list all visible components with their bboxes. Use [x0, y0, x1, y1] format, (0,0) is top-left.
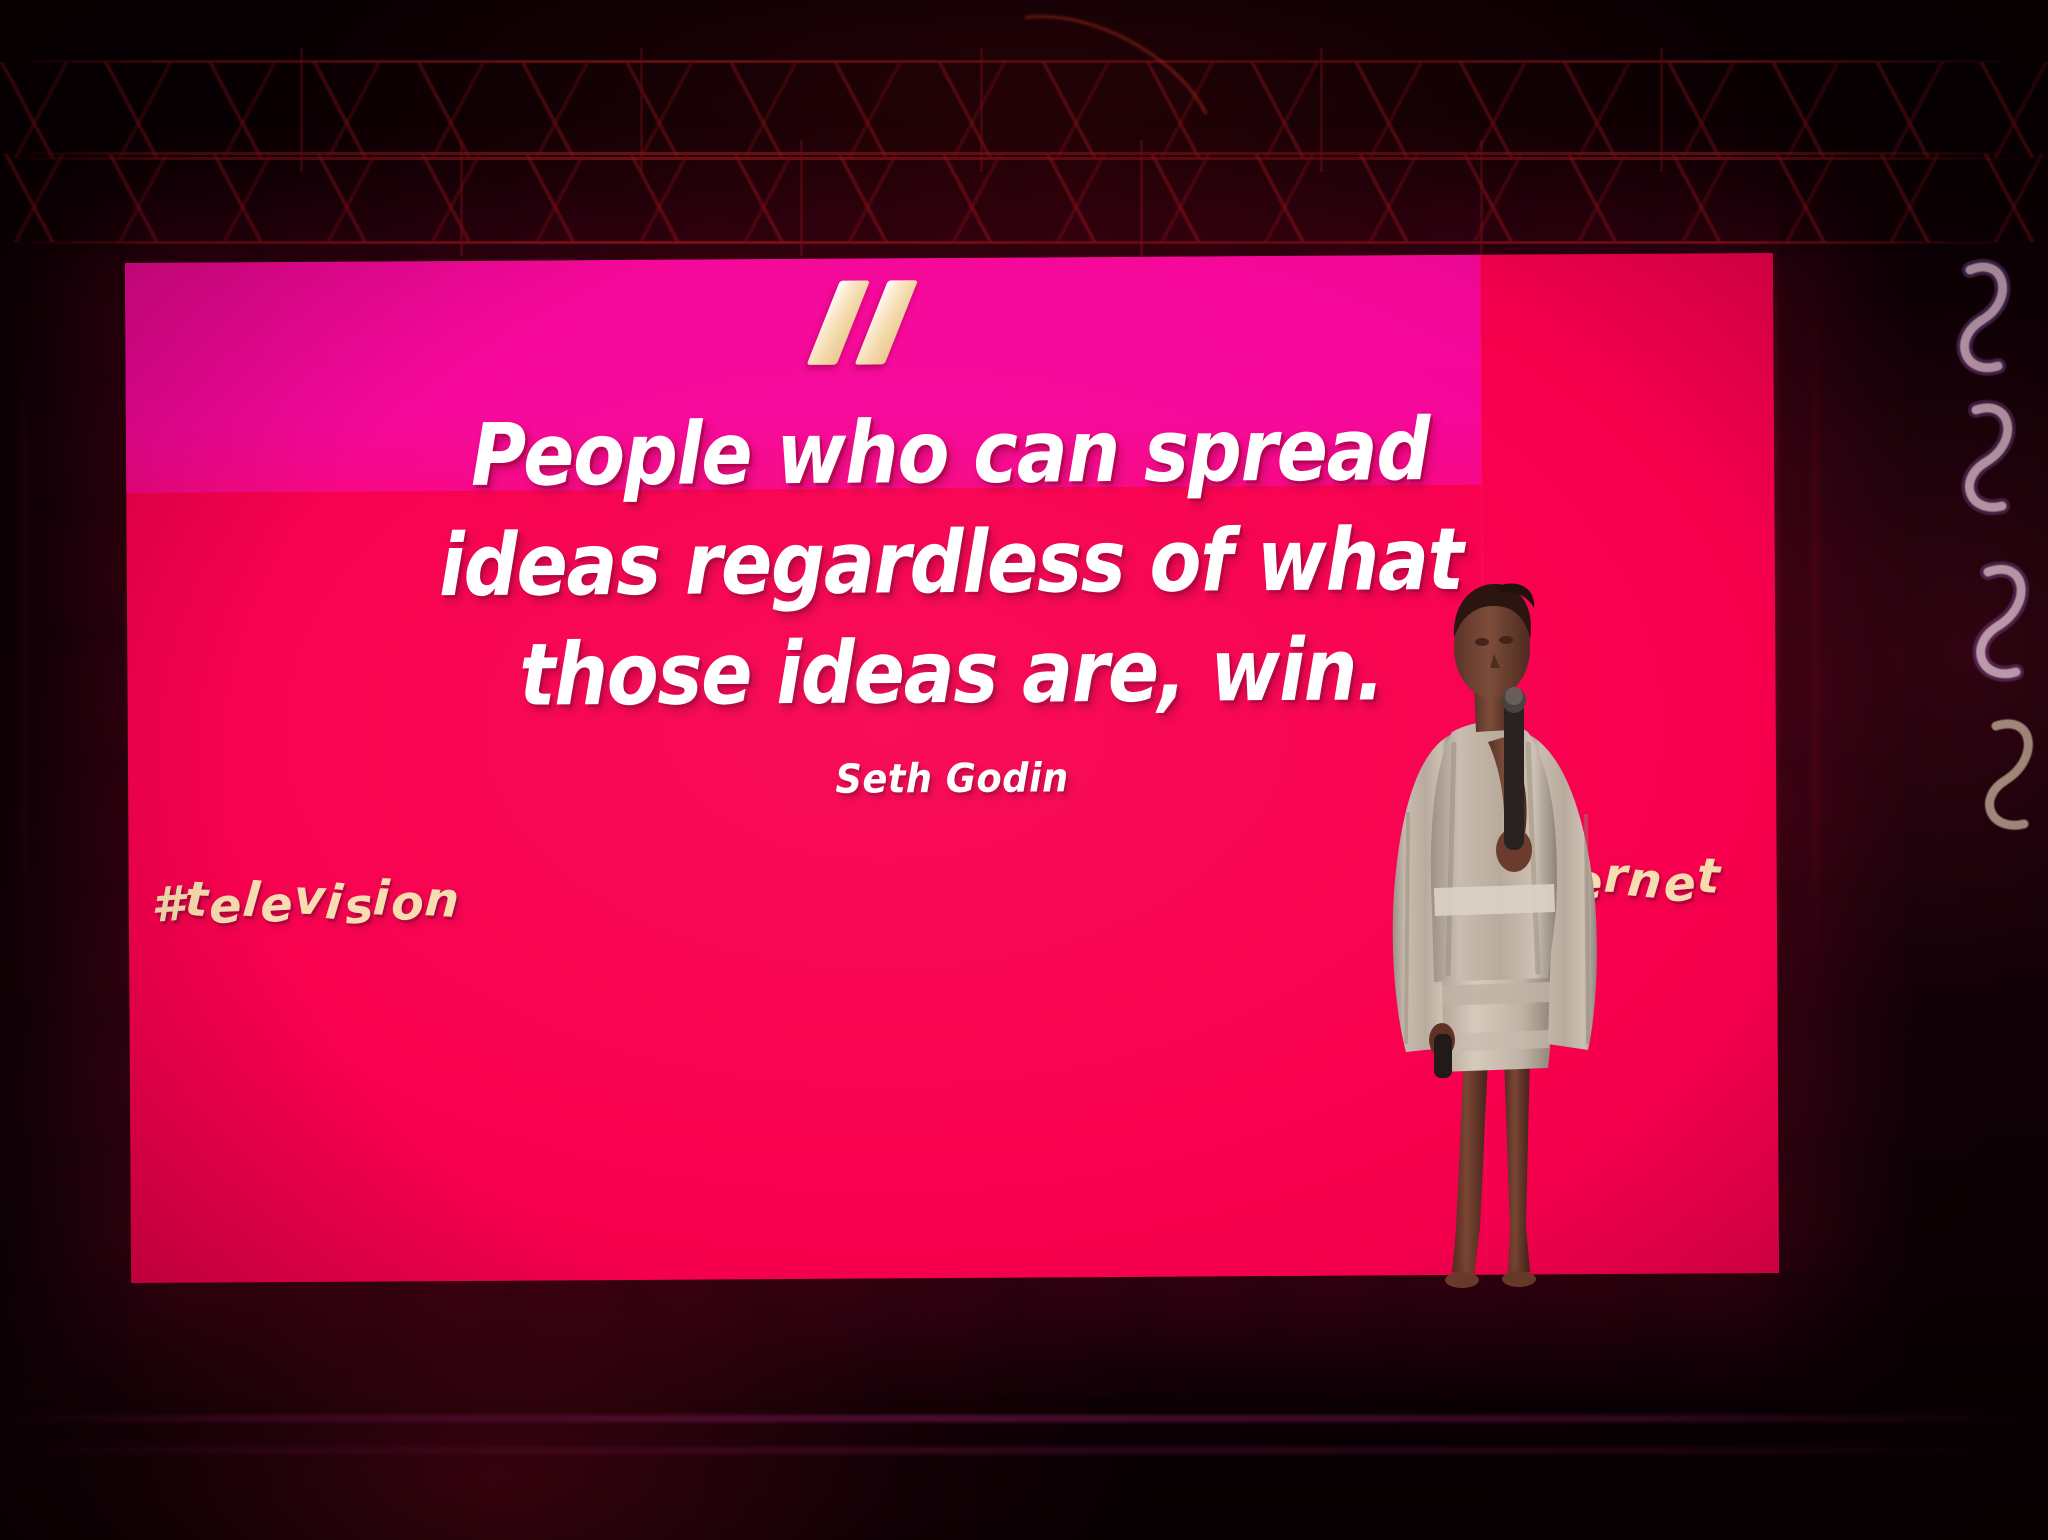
hashtag-letter: n — [423, 871, 462, 929]
hashtag-television: #television — [151, 873, 460, 931]
wall-light-streak — [22, 300, 28, 1000]
stage-scene: People who can spread ideas regardless o… — [0, 0, 2048, 1540]
stage-floor-edge — [0, 1415, 2048, 1422]
stage-floor-edge — [0, 1447, 2048, 1454]
hashtag-letter: r — [1603, 848, 1629, 905]
lighting-truss-lower — [0, 150, 2048, 246]
hashtag-letter: o — [389, 875, 425, 932]
quote-line: those ideas are, win. — [226, 614, 1677, 733]
hashtag-letter: e — [1568, 854, 1605, 912]
hashtag-letter: n — [1510, 856, 1547, 913]
squiggle-light-strands — [1820, 180, 2040, 940]
projection-screen: People who can spread ideas regardless o… — [125, 253, 1779, 1283]
hashtag-letter: s — [341, 877, 376, 936]
double-slash-quote-icon — [815, 280, 936, 371]
hashtag-letter: e — [1661, 855, 1700, 914]
hashtag-letter: # — [1457, 854, 1496, 912]
hashtag-letter: e — [259, 876, 296, 934]
hashtag-letter: # — [149, 876, 188, 934]
quote-attribution: Seth Godin — [194, 751, 1710, 806]
quote-line: ideas regardless of what — [225, 504, 1676, 623]
hashtag-letter: t — [1696, 848, 1723, 905]
lighting-truss-upper — [0, 58, 2048, 162]
hashtag-letter: t — [184, 871, 211, 928]
hashtag-letter: n — [1625, 851, 1666, 910]
hashtag-internet: #internet — [1459, 851, 1721, 909]
hashtag-letter: e — [208, 878, 244, 935]
wall-light-streak — [1812, 240, 1818, 1060]
quote-line: People who can spread — [225, 394, 1676, 513]
hashtag-letter: v — [293, 869, 327, 926]
rig-highlight-arc — [939, 0, 1247, 239]
quote-text-block: People who can spread ideas regardless o… — [126, 393, 1776, 733]
